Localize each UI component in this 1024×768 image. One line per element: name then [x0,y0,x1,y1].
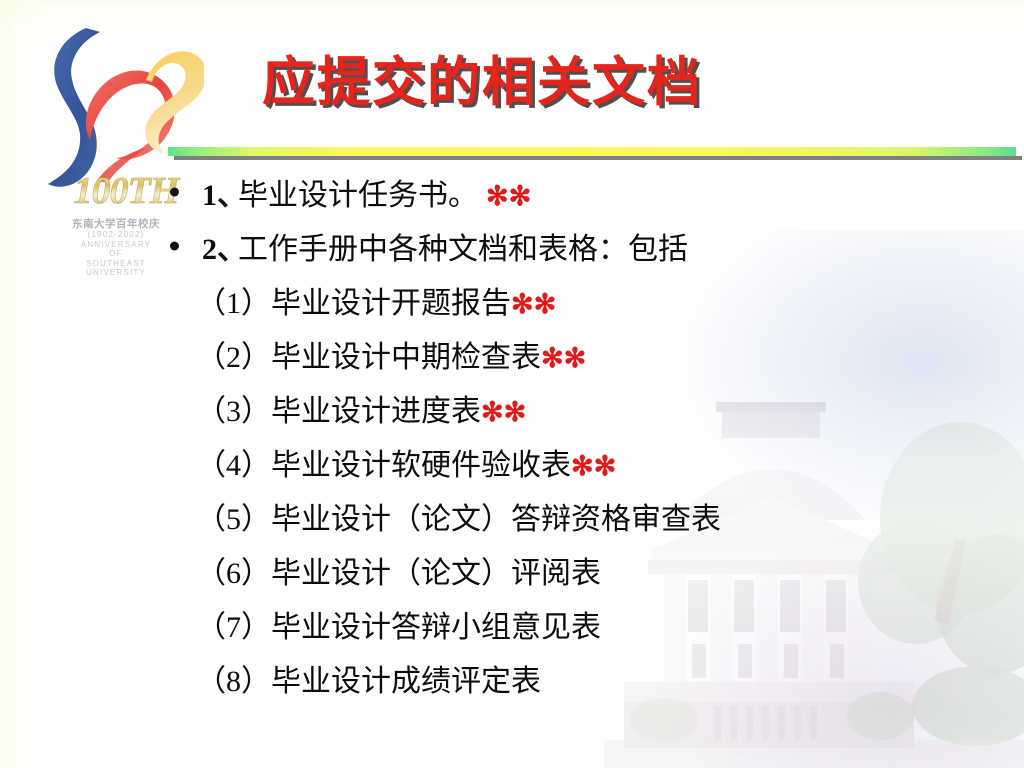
slide-title: 应提交的相关文档 [262,56,702,112]
required-marker: ✻✻ [486,181,531,211]
presentation-slide: 100TH 东南大学百年校庆 (1902-2002) ANNIVERSARY O… [0,0,1024,768]
bullet-icon [170,242,179,251]
list-item: （1）毕业设计开题报告✻✻ [0,273,1024,327]
list-item-text: （8）毕业设计成绩评定表 [196,656,541,700]
divider-gradient-bar [168,147,1016,156]
list-item: （8）毕业设计成绩评定表 [0,651,1024,705]
list-item-text: （1）毕业设计开题报告✻✻ [196,278,556,322]
required-marker: ✻✻ [541,343,586,373]
list-item-text: （2）毕业设计中期检查表✻✻ [196,332,586,376]
list-item: （6）毕业设计（论文）评阅表 [0,543,1024,597]
list-item: （5）毕业设计（论文）答辩资格审查表 [0,489,1024,543]
list-item: 1、毕业设计任务书。✻✻ [0,165,1024,219]
list-item: （7）毕业设计答辩小组意见表 [0,597,1024,651]
list-item-text: （6）毕业设计（论文）评阅表 [196,548,601,592]
list-item-text: （4）毕业设计软硬件验收表✻✻ [196,440,616,484]
required-marker: ✻✻ [511,289,556,319]
required-marker: ✻✻ [571,451,616,481]
list-item-text: 毕业设计任务书。✻✻ [238,170,531,214]
list-item: 2、工作手册中各种文档和表格：包括 [0,219,1024,273]
bullet-icon [170,188,179,197]
title-divider [168,147,1016,161]
list-item-text: 工作手册中各种文档和表格：包括 [238,224,688,268]
list-item: （4）毕业设计软硬件验收表✻✻ [0,435,1024,489]
list-item-text: （3）毕业设计进度表✻✻ [196,386,526,430]
list-item-text: （7）毕业设计答辩小组意见表 [196,602,601,646]
required-marker: ✻✻ [481,397,526,427]
list-item-text: （5）毕业设计（论文）答辩资格审查表 [196,494,721,538]
divider-shadow [174,156,1022,160]
list-item: （3）毕业设计进度表✻✻ [0,381,1024,435]
list-item: （2）毕业设计中期检查表✻✻ [0,327,1024,381]
document-list: 1、毕业设计任务书。✻✻2、工作手册中各种文档和表格：包括（1）毕业设计开题报告… [0,165,1024,705]
